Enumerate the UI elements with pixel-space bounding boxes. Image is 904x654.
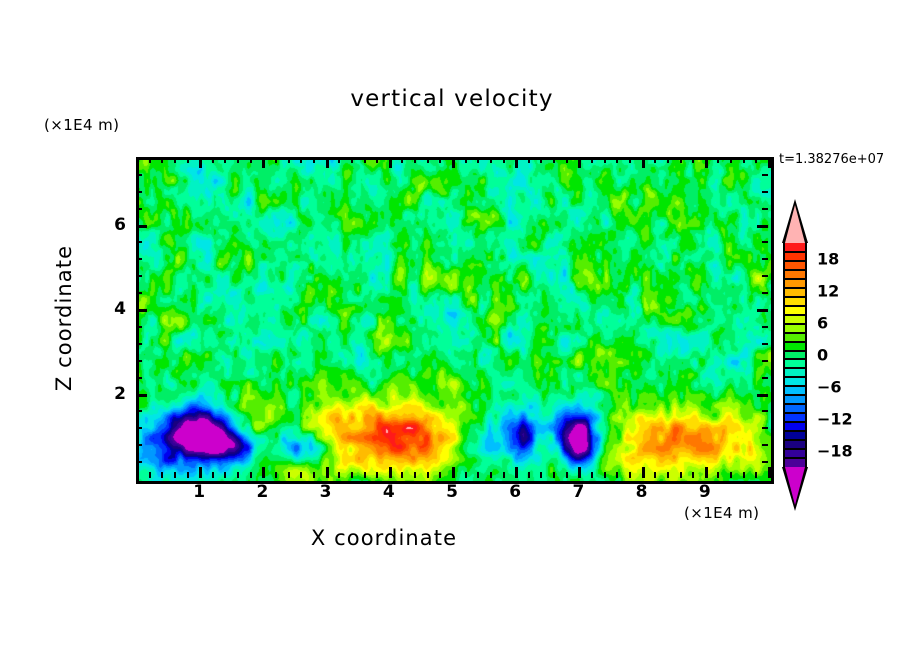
tick-mark: [762, 427, 768, 429]
colorbar-band-divider: [783, 251, 807, 253]
tick-mark: [136, 410, 142, 412]
tick-mark: [414, 157, 416, 163]
tick-mark: [439, 472, 441, 478]
tick-mark: [136, 174, 142, 176]
colorbar-under-arrow-fill: [785, 467, 805, 505]
x-axis-unit-label: (×1E4 m): [684, 504, 759, 522]
tick-mark: [212, 157, 214, 163]
colorbar-tick-label: −18: [817, 442, 853, 461]
colorbar-band-divider: [783, 260, 807, 262]
tick-mark: [578, 467, 581, 478]
tick-mark: [351, 157, 353, 163]
tick-mark: [566, 472, 568, 478]
tick-mark: [591, 157, 593, 163]
tick-mark: [591, 472, 593, 478]
tick-mark: [768, 467, 771, 478]
tick-mark: [477, 157, 479, 163]
tick-mark: [680, 472, 682, 478]
tick-mark: [300, 472, 302, 478]
tick-mark: [136, 191, 142, 193]
tick-mark: [578, 157, 581, 168]
colorbar-band: [783, 458, 807, 467]
tick-mark: [427, 157, 429, 163]
plot-area: [136, 157, 774, 484]
tick-mark: [528, 157, 530, 163]
tick-mark: [730, 157, 732, 163]
colorbar-tick-label: −12: [817, 410, 853, 429]
tick-mark: [515, 157, 518, 168]
tick-mark: [730, 472, 732, 478]
tick-mark: [540, 157, 542, 163]
colorbar-band-divider: [783, 341, 807, 343]
tick-mark: [762, 360, 768, 362]
tick-mark: [427, 472, 429, 478]
colorbar-tick-label: 6: [817, 314, 828, 333]
colorbar-band-divider: [783, 448, 807, 450]
tick-mark: [174, 157, 176, 163]
tick-mark: [136, 360, 142, 362]
colorbar-tick-label: 12: [817, 282, 839, 301]
tick-mark: [654, 157, 656, 163]
tick-mark: [503, 472, 505, 478]
tick-mark: [452, 467, 455, 478]
tick-mark: [136, 326, 142, 328]
tick-mark: [616, 157, 618, 163]
tick-mark: [149, 157, 151, 163]
tick-mark: [680, 157, 682, 163]
tick-mark: [250, 157, 252, 163]
tick-mark: [654, 472, 656, 478]
tick-mark: [275, 472, 277, 478]
tick-mark: [224, 472, 226, 478]
tick-mark: [439, 157, 441, 163]
tick-mark: [136, 461, 142, 463]
colorbar-tick-label: −6: [817, 378, 842, 397]
tick-mark: [250, 472, 252, 478]
colorbar-band-divider: [783, 421, 807, 423]
colorbar-band-divider: [783, 430, 807, 432]
tick-mark: [566, 157, 568, 163]
colorbar-band-divider: [783, 412, 807, 414]
tick-mark: [717, 472, 719, 478]
x-tick-label: 9: [699, 482, 711, 502]
tick-mark: [161, 472, 163, 478]
tick-mark: [762, 377, 768, 379]
colorbar-tick-label: 18: [817, 250, 839, 269]
tick-mark: [757, 309, 768, 312]
tick-mark: [389, 467, 392, 478]
x-tick-label: 3: [320, 482, 332, 502]
tick-mark: [667, 472, 669, 478]
colorbar-band-divider: [783, 296, 807, 298]
tick-mark: [762, 461, 768, 463]
colorbar-band-divider: [783, 376, 807, 378]
contour-field: [139, 160, 771, 481]
tick-mark: [136, 377, 142, 379]
tick-mark: [452, 157, 455, 168]
colorbar-band-divider: [783, 305, 807, 307]
colorbar-band-divider: [783, 403, 807, 405]
tick-mark: [705, 157, 708, 168]
tick-mark: [136, 208, 142, 210]
y-axis-unit-label: (×1E4 m): [44, 116, 119, 134]
tick-mark: [136, 225, 147, 228]
x-axis-title: X coordinate: [0, 526, 768, 550]
tick-mark: [762, 444, 768, 446]
tick-mark: [762, 174, 768, 176]
tick-mark: [553, 472, 555, 478]
tick-mark: [136, 444, 142, 446]
tick-mark: [757, 225, 768, 228]
tick-mark: [136, 309, 147, 312]
tick-mark: [667, 157, 669, 163]
tick-mark: [275, 157, 277, 163]
colorbar: 181260−6−12−18: [783, 243, 807, 467]
colorbar-band-divider: [783, 394, 807, 396]
tick-mark: [755, 472, 757, 478]
x-tick-label: 5: [446, 482, 458, 502]
tick-mark: [762, 410, 768, 412]
x-tick-label: 1: [193, 482, 205, 502]
colorbar-band-divider: [783, 323, 807, 325]
y-tick-label: 4: [102, 299, 126, 319]
tick-mark: [755, 157, 757, 163]
y-axis-title: Z coordinate: [52, 228, 76, 408]
tick-mark: [351, 472, 353, 478]
tick-mark: [743, 472, 745, 478]
tick-mark: [401, 157, 403, 163]
tick-mark: [629, 472, 631, 478]
tick-mark: [313, 472, 315, 478]
tick-mark: [262, 467, 265, 478]
tick-mark: [136, 427, 142, 429]
tick-mark: [326, 157, 329, 168]
tick-mark: [338, 157, 340, 163]
tick-mark: [364, 157, 366, 163]
tick-mark: [762, 292, 768, 294]
tick-mark: [477, 472, 479, 478]
tick-mark: [503, 157, 505, 163]
tick-mark: [288, 157, 290, 163]
tick-mark: [762, 326, 768, 328]
tick-mark: [237, 157, 239, 163]
colorbar-band-divider: [783, 439, 807, 441]
colorbar-band-divider: [783, 358, 807, 360]
tick-mark: [414, 472, 416, 478]
colorbar-band-divider: [783, 278, 807, 280]
colorbar-band-divider: [783, 332, 807, 334]
tick-mark: [762, 343, 768, 345]
tick-mark: [692, 157, 694, 163]
colorbar-band-divider: [783, 314, 807, 316]
y-tick-label: 6: [102, 215, 126, 235]
tick-mark: [136, 258, 142, 260]
tick-mark: [768, 157, 771, 168]
tick-mark: [136, 275, 142, 277]
tick-mark: [692, 472, 694, 478]
tick-mark: [326, 467, 329, 478]
tick-mark: [136, 343, 142, 345]
tick-mark: [490, 472, 492, 478]
tick-mark: [262, 157, 265, 168]
colorbar-band-divider: [783, 367, 807, 369]
tick-mark: [717, 157, 719, 163]
tick-mark: [705, 467, 708, 478]
tick-mark: [629, 157, 631, 163]
tick-mark: [616, 472, 618, 478]
x-tick-label: 4: [383, 482, 395, 502]
tick-mark: [515, 467, 518, 478]
tick-mark: [174, 472, 176, 478]
tick-mark: [338, 472, 340, 478]
colorbar-band-divider: [783, 269, 807, 271]
tick-mark: [528, 472, 530, 478]
timestamp-label: t=1.38276e+07: [779, 152, 884, 167]
colorbar-tick-label: 0: [817, 346, 828, 365]
colorbar-band-divider: [783, 457, 807, 459]
tick-mark: [149, 472, 151, 478]
tick-mark: [490, 157, 492, 163]
tick-mark: [187, 472, 189, 478]
tick-mark: [757, 394, 768, 397]
tick-mark: [237, 472, 239, 478]
tick-mark: [465, 472, 467, 478]
x-tick-label: 8: [636, 482, 648, 502]
tick-mark: [136, 394, 147, 397]
tick-mark: [288, 472, 290, 478]
tick-mark: [300, 157, 302, 163]
tick-mark: [376, 472, 378, 478]
colorbar-band-divider: [783, 385, 807, 387]
figure-canvas: vertical velocity (×1E4 m) (×1E4 m) t=1.…: [0, 0, 904, 654]
tick-mark: [762, 191, 768, 193]
x-tick-label: 6: [509, 482, 521, 502]
tick-mark: [199, 467, 202, 478]
tick-mark: [642, 467, 645, 478]
tick-mark: [224, 157, 226, 163]
tick-mark: [199, 157, 202, 168]
tick-mark: [743, 157, 745, 163]
x-tick-label: 2: [256, 482, 268, 502]
tick-mark: [762, 241, 768, 243]
tick-mark: [364, 472, 366, 478]
tick-mark: [762, 258, 768, 260]
tick-mark: [540, 472, 542, 478]
tick-mark: [161, 157, 163, 163]
x-tick-label: 7: [572, 482, 584, 502]
tick-mark: [401, 472, 403, 478]
tick-mark: [762, 275, 768, 277]
colorbar-band-divider: [783, 287, 807, 289]
tick-mark: [212, 472, 214, 478]
y-tick-label: 2: [102, 384, 126, 404]
tick-mark: [187, 157, 189, 163]
colorbar-over-arrow-fill: [785, 205, 805, 243]
tick-mark: [313, 157, 315, 163]
tick-mark: [389, 157, 392, 168]
tick-mark: [376, 157, 378, 163]
tick-mark: [604, 157, 606, 163]
colorbar-band-divider: [783, 350, 807, 352]
tick-mark: [604, 472, 606, 478]
tick-mark: [642, 157, 645, 168]
page-title: vertical velocity: [0, 86, 904, 112]
tick-mark: [136, 292, 142, 294]
tick-mark: [553, 157, 555, 163]
tick-mark: [762, 208, 768, 210]
tick-mark: [136, 241, 142, 243]
tick-mark: [465, 157, 467, 163]
